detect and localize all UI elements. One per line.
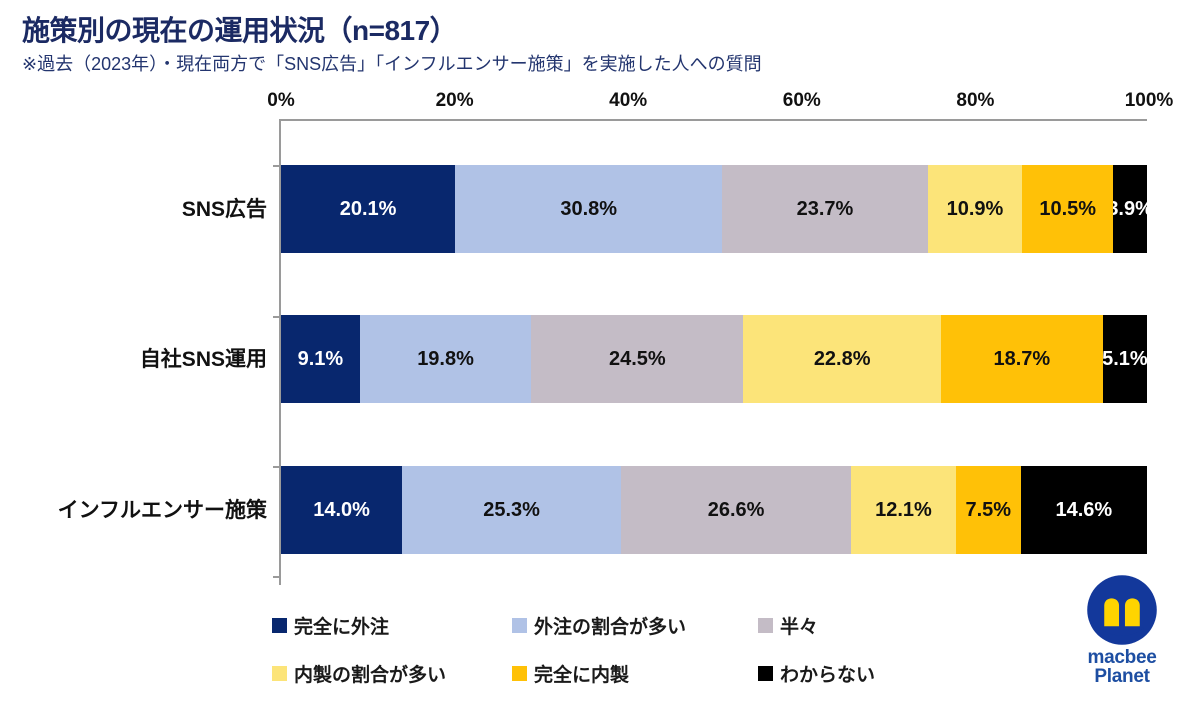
legend-item[interactable]: 外注の割合が多い [512,612,758,639]
legend-item[interactable]: わからない [758,660,998,687]
legend-color-swatch-icon [512,618,527,633]
y-axis-tick-mark [273,576,281,578]
chart-subtitle: ※過去（2023年）・現在両方で「SNS広告」「インフルエンサー施策」を実施した… [22,50,762,76]
bar-segment-value-label: 7.5% [965,499,1011,522]
bar-segment-value-label: 5.1% [1103,348,1147,371]
bar-segment: 9.1% [281,315,360,403]
logo-wordmark: macbee Planet [1088,648,1157,687]
macbee-planet-logo: macbee Planet [1062,573,1182,701]
page-title: 施策別の現在の運用状況（n=817） [22,9,457,49]
bar-row: 20.1%30.8%23.7%10.9%10.5%3.9% [281,165,1147,253]
bar-segment: 10.5% [1022,165,1113,253]
legend-label: 完全に内製 [534,660,629,687]
bar-row: 9.1%19.8%24.5%22.8%18.7%5.1% [281,315,1147,403]
bar-segment-value-label: 30.8% [560,198,617,221]
y-axis-tick-mark [273,466,281,468]
bar-segment: 10.9% [928,165,1022,253]
bar-segment: 14.0% [281,466,402,554]
bar-segment: 23.7% [722,165,927,253]
bar-segment-value-label: 12.1% [875,499,932,522]
bar-segment-value-label: 26.6% [708,499,765,522]
bar-segment-value-label: 10.5% [1039,198,1096,221]
logo-line-2: Planet [1088,667,1157,686]
legend-item[interactable]: 半々 [758,612,998,639]
bar-segment-value-label: 24.5% [609,348,666,371]
x-axis-tick-label: 40% [609,90,647,112]
bar-segment: 30.8% [455,165,722,253]
bar-segment-value-label: 19.8% [417,348,474,371]
chart-plot-area: 0%20%40%60%80%100% 20.1%30.8%23.7%10.9%1… [279,119,1147,585]
bar-segment: 14.6% [1021,466,1147,554]
bar-segment: 12.1% [851,466,956,554]
bar-segment: 25.3% [402,466,621,554]
bar-segment: 7.5% [956,466,1021,554]
bar-segment: 19.8% [360,315,531,403]
bar-segment-value-label: 3.9% [1113,198,1147,221]
bar-segment-value-label: 20.1% [340,198,397,221]
bar-row: 14.0%25.3%26.6%12.1%7.5%14.6% [281,466,1147,554]
legend-label: 半々 [780,612,818,639]
bar-segment-value-label: 14.6% [1056,499,1113,522]
y-axis-tick-mark [273,165,281,167]
macbee-planet-circle-icon [1085,573,1159,647]
bar-segment-value-label: 14.0% [313,499,370,522]
legend-label: 内製の割合が多い [294,660,446,687]
legend-label: わからない [780,660,875,687]
legend-item[interactable]: 完全に外注 [272,612,512,639]
bar-segment-value-label: 18.7% [994,348,1051,371]
x-axis-tick-label: 0% [267,90,294,112]
x-axis-tick-label: 100% [1125,90,1174,112]
category-label: SNS広告 [182,193,267,223]
logo-line-1: macbee [1088,647,1157,668]
x-axis-tick-label: 60% [783,90,821,112]
bar-segment: 3.9% [1113,165,1147,253]
bar-segment: 26.6% [621,466,851,554]
legend-label: 外注の割合が多い [534,612,686,639]
chart-legend: 完全に外注外注の割合が多い半々内製の割合が多い完全に内製わからない [272,601,1032,697]
legend-item[interactable]: 完全に内製 [512,660,758,687]
category-label: 自社SNS運用 [140,343,267,373]
y-axis-tick-mark [273,316,281,318]
legend-color-swatch-icon [758,618,773,633]
legend-label: 完全に外注 [294,612,389,639]
bar-segment-value-label: 10.9% [947,198,1004,221]
x-axis-tick-label: 20% [436,90,474,112]
bar-segment: 5.1% [1103,315,1147,403]
legend-color-swatch-icon [272,666,287,681]
bar-segment-value-label: 9.1% [298,348,344,371]
bar-segment: 18.7% [941,315,1103,403]
legend-color-swatch-icon [272,618,287,633]
category-label: インフルエンサー施策 [58,494,267,524]
bar-segment: 22.8% [743,315,940,403]
legend-item[interactable]: 内製の割合が多い [272,660,512,687]
bar-segment-value-label: 25.3% [483,499,540,522]
bar-segment-value-label: 22.8% [814,348,871,371]
bar-segment: 24.5% [531,315,743,403]
bar-segment: 20.1% [281,165,455,253]
x-axis-tick-label: 80% [956,90,994,112]
legend-color-swatch-icon [512,666,527,681]
bar-segment-value-label: 23.7% [797,198,854,221]
legend-color-swatch-icon [758,666,773,681]
